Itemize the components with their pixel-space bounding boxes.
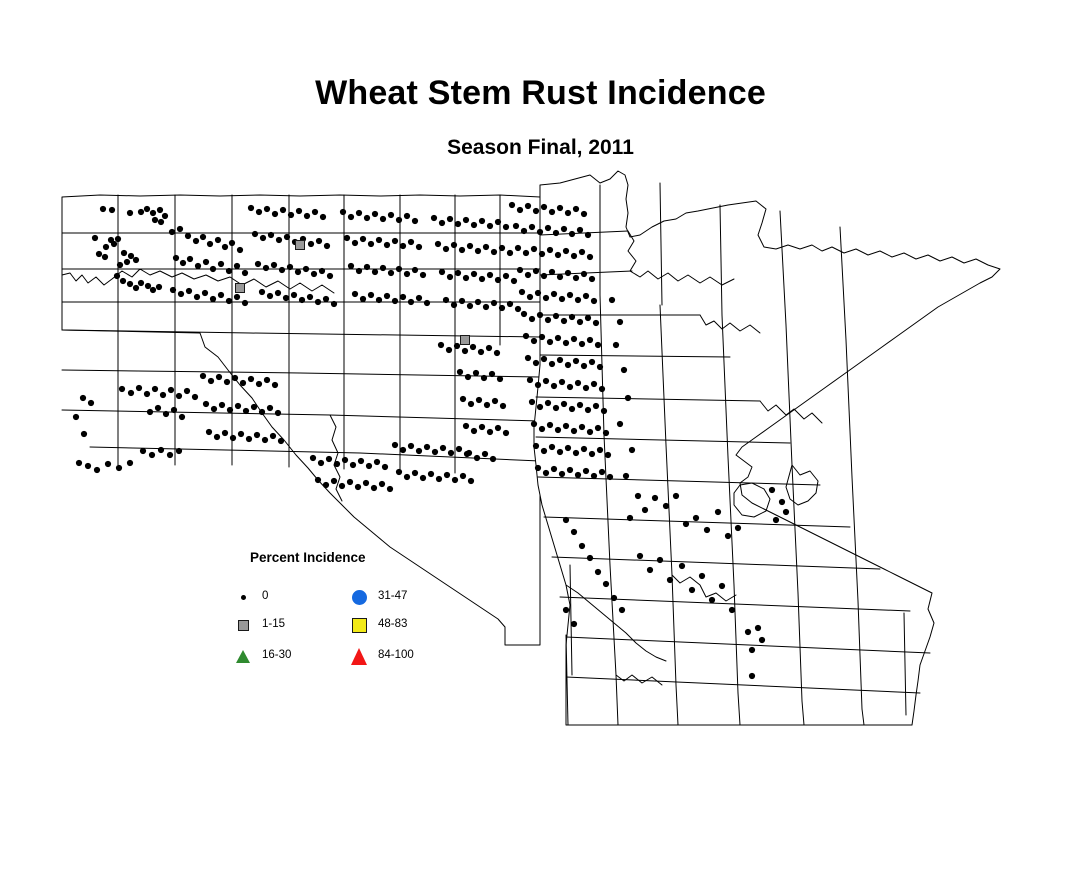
survey-point-0 [563,248,569,254]
survey-point-0 [607,474,613,480]
survey-point-0 [547,339,553,345]
survey-point-0 [579,543,585,549]
survey-point-0 [583,385,589,391]
survey-point-0 [559,379,565,385]
survey-point-0 [119,386,125,392]
survey-point-0 [207,241,213,247]
survey-point-0 [533,208,539,214]
survey-point-0 [416,448,422,454]
survey-point-0 [457,369,463,375]
county-boundary-layer [62,171,1000,725]
survey-point-0 [577,227,583,233]
survey-point-0 [587,555,593,561]
survey-point-0 [443,297,449,303]
survey-point-0 [561,318,567,324]
survey-point-0 [288,212,294,218]
survey-point-0 [211,406,217,412]
survey-point-0 [545,225,551,231]
survey-point-0 [533,268,539,274]
survey-point-0 [124,259,130,265]
survey-point-0 [595,342,601,348]
survey-point-0 [529,316,535,322]
survey-point-0 [248,376,254,382]
survey-point-0 [715,509,721,515]
survey-point-0 [541,204,547,210]
survey-point-0 [466,450,472,456]
survey-point-0 [492,398,498,404]
survey-point-0 [312,209,318,215]
survey-point-0 [482,451,488,457]
survey-point-0 [240,380,246,386]
legend-swatch-yellow-square-icon [348,618,370,633]
survey-point-0 [551,383,557,389]
survey-point-0 [555,252,561,258]
survey-point-0 [589,276,595,282]
survey-point-0 [541,273,547,279]
survey-point-0 [625,395,631,401]
survey-point-0 [243,408,249,414]
legend-label-2: 16-30 [262,650,291,662]
survey-point-0 [270,433,276,439]
survey-point-0 [581,211,587,217]
survey-point-0 [533,360,539,366]
survey-point-0 [499,305,505,311]
survey-point-0 [459,298,465,304]
survey-point-0 [573,358,579,364]
survey-point-0 [583,468,589,474]
survey-point-0 [494,350,500,356]
survey-point-0 [467,303,473,309]
survey-point-0 [521,311,527,317]
survey-point-0 [563,517,569,523]
survey-point-0 [214,434,220,440]
survey-point-0 [256,209,262,215]
survey-point-0 [749,647,755,653]
survey-point-0 [500,403,506,409]
survey-point-0 [396,217,402,223]
survey-point-0 [376,297,382,303]
survey-point-0 [121,250,127,256]
survey-point-0 [412,470,418,476]
survey-point-0 [160,392,166,398]
survey-point-0 [545,400,551,406]
survey-point-0 [474,455,480,461]
survey-point-0 [80,395,86,401]
survey-point-0 [465,374,471,380]
survey-point-0 [128,390,134,396]
survey-point-0 [276,237,282,243]
legend-label-5: 84-100 [378,650,414,662]
survey-point-0 [463,275,469,281]
survey-point-0 [412,267,418,273]
survey-point-0 [264,377,270,383]
survey-point-0 [495,425,501,431]
legend-swatch-red-triangle-icon [348,648,370,665]
survey-point-0 [531,246,537,252]
survey-point-0 [318,460,324,466]
survey-point-0 [138,209,144,215]
survey-point-0 [200,234,206,240]
survey-point-0 [755,625,761,631]
survey-point-0 [218,261,224,267]
survey-point-0 [235,403,241,409]
survey-point-0 [170,287,176,293]
survey-point-0 [587,429,593,435]
survey-point-0 [577,319,583,325]
survey-point-0 [127,460,133,466]
survey-point-0 [355,484,361,490]
survey-point-0 [102,254,108,260]
survey-point-0 [115,236,121,242]
survey-point-0 [535,382,541,388]
survey-point-0 [284,234,290,240]
survey-point-0 [440,445,446,451]
survey-point-0 [408,299,414,305]
survey-point-0 [326,456,332,462]
survey-point-0 [114,273,120,279]
survey-point-0 [267,405,273,411]
survey-point-0 [133,285,139,291]
survey-point-0 [432,449,438,455]
survey-point-0 [561,401,567,407]
survey-point-0 [178,291,184,297]
survey-point-0 [549,269,555,275]
survey-point-0 [613,342,619,348]
survey-point-0 [280,207,286,213]
survey-point-0 [561,226,567,232]
survey-point-0 [553,405,559,411]
survey-point-0 [491,300,497,306]
legend-title: Percent Incidence [250,550,366,565]
survey-point-0 [176,448,182,454]
survey-point-0 [529,399,535,405]
survey-point-0 [490,456,496,462]
survey-point-0 [529,224,535,230]
survey-point-0 [565,210,571,216]
survey-point-0 [127,210,133,216]
survey-point-0 [436,476,442,482]
survey-point-0 [85,463,91,469]
survey-point-0 [523,333,529,339]
survey-point-0 [573,450,579,456]
survey-point-0 [446,347,452,353]
survey-point-0 [150,287,156,293]
survey-point-0 [384,242,390,248]
survey-point-0 [230,435,236,441]
survey-point-0 [575,472,581,478]
survey-point-0 [350,462,356,468]
survey-point-0 [657,557,663,563]
legend-label-4: 48-83 [378,619,407,631]
survey-point-0 [320,214,326,220]
survey-point-0 [303,266,309,272]
survey-point-0 [577,402,583,408]
survey-point-0 [507,250,513,256]
survey-point-0 [200,373,206,379]
survey-point-0 [117,262,123,268]
survey-point-0 [689,587,695,593]
survey-point-0 [344,235,350,241]
legend-swatch-blue-circle-icon [348,590,370,605]
survey-point-0 [226,298,232,304]
survey-point-0 [202,290,208,296]
survey-point-0 [487,223,493,229]
survey-point-0 [571,529,577,535]
survey-point-0 [629,447,635,453]
survey-point-0 [152,386,158,392]
survey-point-0 [315,477,321,483]
survey-point-1-15 [236,284,245,293]
survey-point-0 [264,206,270,212]
survey-point-0 [380,265,386,271]
survey-point-0 [210,266,216,272]
survey-point-0 [551,291,557,297]
survey-point-0 [234,263,240,269]
survey-point-0 [327,273,333,279]
survey-point-0 [460,396,466,402]
survey-point-0 [439,269,445,275]
survey-point-0 [484,402,490,408]
survey-point-0 [478,349,484,355]
survey-point-0 [255,261,261,267]
survey-point-0 [158,447,164,453]
survey-point-0 [571,621,577,627]
survey-point-0 [387,486,393,492]
survey-point-0 [547,422,553,428]
survey-point-0 [443,246,449,252]
survey-point-0 [611,595,617,601]
survey-point-0 [185,233,191,239]
survey-point-0 [439,220,445,226]
survey-point-0 [380,216,386,222]
survey-point-0 [81,431,87,437]
survey-point-0 [319,268,325,274]
survey-point-0 [454,343,460,349]
survey-point-0 [140,448,146,454]
survey-point-1-15 [461,336,470,345]
survey-point-0 [144,206,150,212]
survey-point-0 [307,294,313,300]
survey-point-0 [296,208,302,214]
survey-point-0 [699,573,705,579]
survey-point-0 [617,421,623,427]
survey-point-0 [339,483,345,489]
survey-point-0 [619,607,625,613]
survey-point-0 [525,355,531,361]
survey-point-0 [563,340,569,346]
survey-point-0 [609,297,615,303]
survey-point-0 [392,442,398,448]
survey-point-0 [109,207,115,213]
survey-point-0 [227,407,233,413]
survey-point-0 [259,409,265,415]
survey-point-0 [368,241,374,247]
survey-point-0 [451,242,457,248]
survey-point-0 [729,607,735,613]
survey-point-0 [144,391,150,397]
survey-point-0 [404,271,410,277]
survey-point-0 [495,277,501,283]
survey-point-0 [163,411,169,417]
survey-point-0 [467,243,473,249]
survey-point-0 [150,210,156,216]
survey-point-0 [162,213,168,219]
survey-point-0 [573,275,579,281]
survey-point-0 [382,464,388,470]
survey-point-0 [206,429,212,435]
survey-point-0 [679,563,685,569]
survey-point-0 [637,553,643,559]
survey-point-0 [597,447,603,453]
minnesota-outline [534,171,1000,725]
survey-point-0 [400,243,406,249]
survey-point-0 [356,210,362,216]
survey-point-0 [364,264,370,270]
survey-point-0 [709,597,715,603]
survey-point-0 [565,362,571,368]
survey-point-0 [435,241,441,247]
survey-point-0 [503,224,509,230]
survey-point-0 [591,298,597,304]
survey-point-0 [585,407,591,413]
survey-point-0 [531,338,537,344]
survey-point-0 [275,410,281,416]
survey-point-0 [527,377,533,383]
legend-label-0: 0 [262,591,268,603]
survey-point-0 [388,212,394,218]
survey-point-0 [299,297,305,303]
survey-point-0 [503,430,509,436]
survey-point-0 [585,232,591,238]
survey-point-0 [527,294,533,300]
survey-point-0 [279,267,285,273]
survey-point-0 [408,239,414,245]
map-canvas [0,165,1081,745]
survey-point-0 [535,465,541,471]
survey-point-0 [541,448,547,454]
survey-point-0 [438,342,444,348]
survey-point-0 [331,478,337,484]
survey-point-0 [513,223,519,229]
survey-point-0 [246,436,252,442]
survey-point-0 [448,450,454,456]
survey-point-0 [455,221,461,227]
survey-point-0 [571,428,577,434]
survey-point-0 [557,357,563,363]
survey-point-0 [673,493,679,499]
survey-point-0 [420,272,426,278]
survey-point-0 [553,313,559,319]
survey-point-0 [138,280,144,286]
survey-point-0 [735,525,741,531]
legend-item-4: 48-83 [348,615,468,635]
survey-point-0 [136,385,142,391]
survey-point-0 [567,384,573,390]
legend-item-0: 0 [232,587,347,607]
survey-point-0 [587,254,593,260]
survey-point-0 [222,244,228,250]
survey-point-0 [549,209,555,215]
survey-point-0 [470,344,476,350]
survey-point-0 [517,207,523,213]
survey-point-0 [271,262,277,268]
survey-point-0 [507,301,513,307]
survey-point-0 [179,414,185,420]
survey-point-0 [396,469,402,475]
survey-point-0 [597,364,603,370]
survey-point-0 [745,629,751,635]
survey-point-0 [311,271,317,277]
survey-point-0 [103,244,109,250]
survey-point-0 [593,403,599,409]
survey-point-0 [218,292,224,298]
survey-point-0 [210,296,216,302]
survey-point-0 [647,567,653,573]
survey-point-0 [483,244,489,250]
survey-point-0 [193,238,199,244]
survey-point-0 [537,404,543,410]
survey-point-0 [475,299,481,305]
survey-point-0 [517,267,523,273]
survey-point-0 [579,424,585,430]
survey-point-0 [262,437,268,443]
survey-point-0 [557,205,563,211]
survey-point-0 [541,356,547,362]
survey-point-0 [462,348,468,354]
survey-point-0 [587,337,593,343]
legend-swatch-gray-square-icon [232,620,254,631]
survey-point-0 [324,243,330,249]
survey-point-0 [372,211,378,217]
survey-point-0 [539,251,545,257]
survey-point-0 [603,581,609,587]
survey-point-0 [725,533,731,539]
survey-point-0 [352,291,358,297]
survey-point-0 [356,268,362,274]
survey-point-0 [567,292,573,298]
survey-point-0 [497,376,503,382]
survey-point-0 [268,232,274,238]
survey-point-0 [569,231,575,237]
survey-point-0 [663,503,669,509]
survey-point-0 [215,237,221,243]
survey-point-0 [539,426,545,432]
survey-point-0 [334,461,340,467]
survey-point-0 [167,452,173,458]
survey-point-0 [605,452,611,458]
survey-point-0 [444,472,450,478]
survey-point-0 [168,387,174,393]
survey-point-0 [372,269,378,275]
survey-point-0 [476,397,482,403]
survey-point-0 [275,290,281,296]
survey-point-0 [374,459,380,465]
survey-point-0 [567,467,573,473]
survey-point-0 [621,367,627,373]
survey-point-0 [667,577,673,583]
survey-point-0 [601,408,607,414]
survey-point-0 [347,479,353,485]
survey-point-0 [451,302,457,308]
survey-point-0 [267,293,273,299]
survey-point-0 [396,266,402,272]
survey-point-0 [471,428,477,434]
survey-point-0 [559,471,565,477]
survey-point-0 [364,215,370,221]
survey-point-0 [447,216,453,222]
survey-point-0 [342,457,348,463]
survey-point-0 [599,386,605,392]
